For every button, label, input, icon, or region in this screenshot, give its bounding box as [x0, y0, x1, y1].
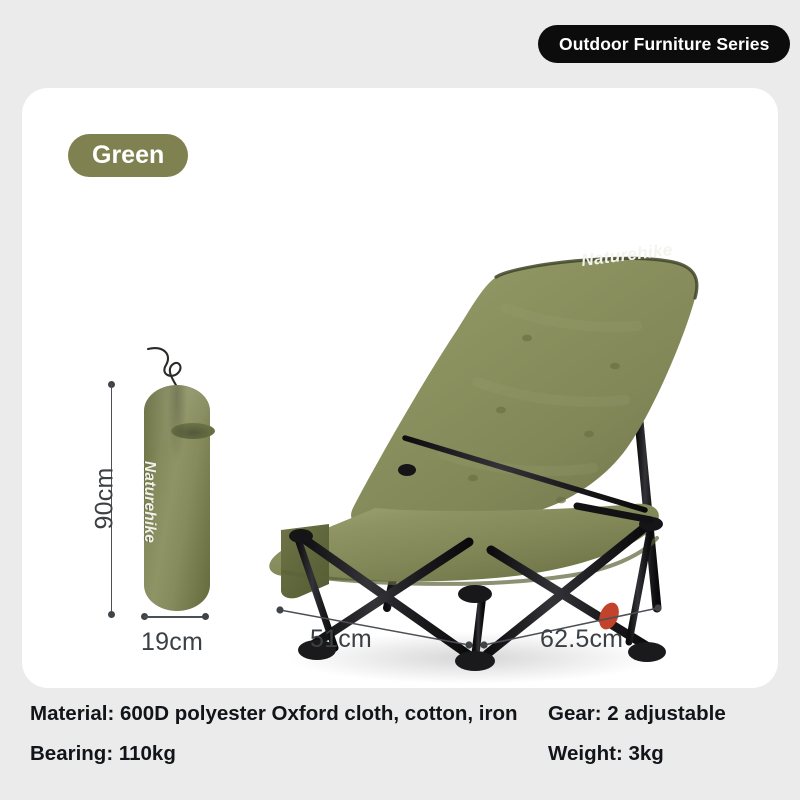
dim-51-label: 51cm [310, 625, 372, 654]
dim-625-label: 62.5cm [540, 625, 623, 654]
spec-material: Material: 600D polyester Oxford cloth, c… [30, 704, 518, 725]
color-chip: Green [68, 134, 188, 177]
series-badge: Outdoor Furniture Series [538, 25, 790, 63]
dim-90-dot-bottom [108, 611, 115, 618]
carry-bag-group: Naturehike [128, 343, 238, 613]
dim-90-label: 90cm [91, 444, 120, 554]
product-card: Green Naturehike 90cm 19cm [22, 88, 778, 688]
spec-weight: Weight: 3kg [548, 744, 664, 765]
folding-chair-illustration: Naturehike [237, 138, 707, 688]
spec-gear: Gear: 2 adjustable [548, 704, 726, 725]
carry-bag-brand-label: Naturehike [140, 461, 158, 543]
product-image-stage: Outdoor Furniture Series Green Naturehik… [0, 0, 800, 800]
dim-19-label: 19cm [131, 628, 213, 657]
carry-bag-cinch [171, 423, 215, 439]
dim-19-line [144, 616, 205, 618]
spec-bearing: Bearing: 110kg [30, 744, 176, 765]
spec-block: Material: 600D polyester Oxford cloth, c… [0, 694, 800, 800]
dim-19-dot-right [202, 613, 209, 620]
